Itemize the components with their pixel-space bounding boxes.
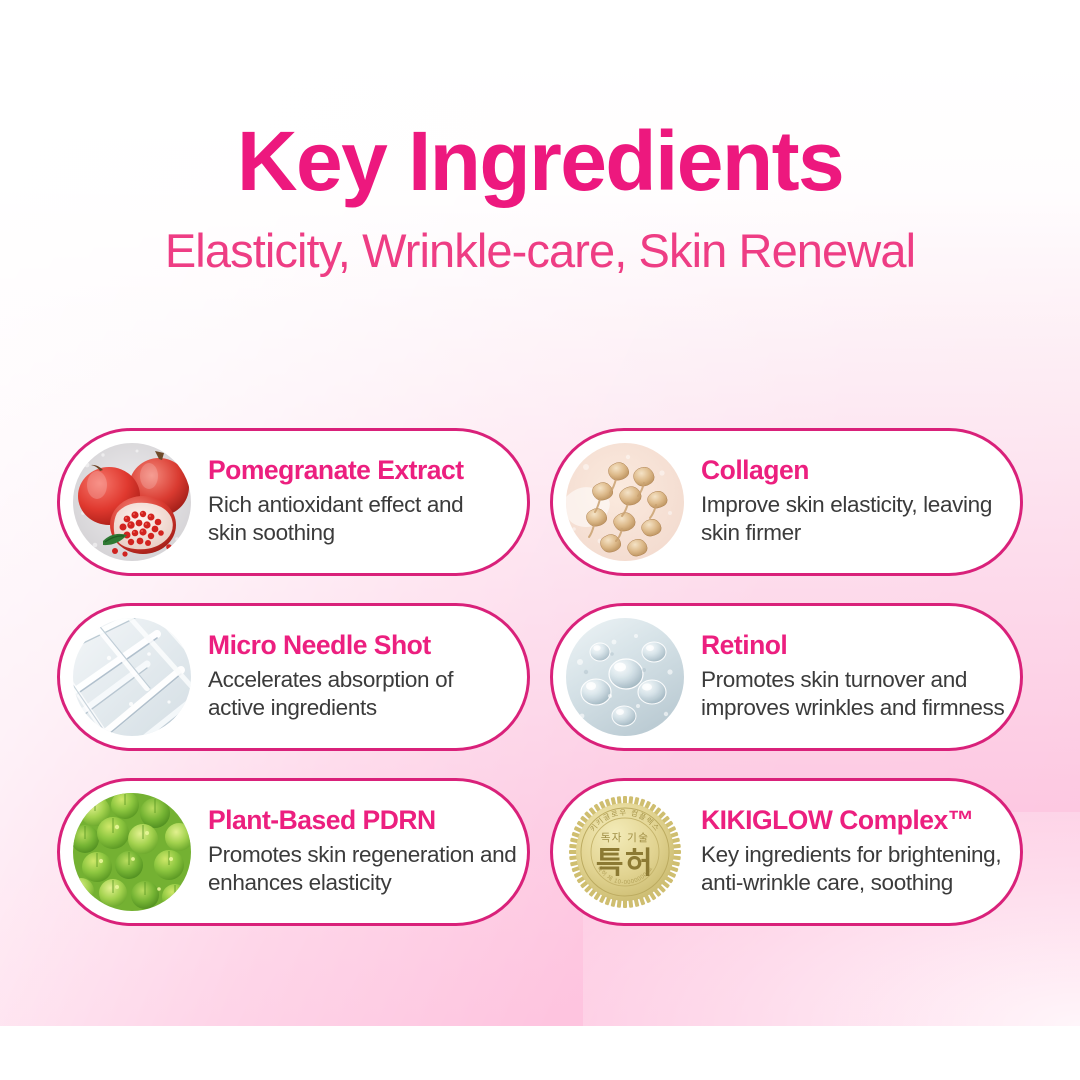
card-description: Promotes skin turnover and improves wrin…	[701, 666, 1001, 723]
card-description-line-2: active ingredients	[208, 694, 453, 723]
card-description: Promotes skin regeneration and enhances …	[208, 841, 508, 898]
water-droplets-photo	[566, 618, 684, 736]
card-description-line-2: improves wrinkles and firmness	[701, 694, 1001, 723]
seal-top-text: 독자 기술	[601, 832, 650, 844]
card-text: Retinol Promotes skin turnover and impro…	[684, 631, 1015, 722]
card-description: Improve skin elasticity, leaving skin fi…	[701, 491, 992, 548]
card-title: Collagen	[701, 456, 992, 485]
page-subtitle: Elasticity, Wrinkle-care, Skin Renewal	[0, 227, 1080, 274]
card-title: Retinol	[701, 631, 1001, 660]
card-description-line-1: Rich antioxidant effect and	[208, 491, 464, 520]
card-text: Collagen Improve skin elasticity, leavin…	[684, 456, 1006, 547]
card-text: Plant-Based PDRN Promotes skin regenerat…	[191, 806, 522, 897]
micro-needles-photo	[73, 618, 191, 736]
seal-main-text: 특허	[596, 847, 654, 880]
card-description-line-1: Improve skin elasticity, leaving	[701, 491, 992, 520]
card-title: KIKIGLOW Complex™	[701, 806, 1001, 835]
card-description-line-1: Accelerates absorption of	[208, 666, 453, 695]
card-title: Micro Needle Shot	[208, 631, 453, 660]
card-description-line-2: skin soothing	[208, 519, 464, 548]
card-description-line-1: Key ingredients for brightening,	[701, 841, 1001, 870]
card-description-line-2: enhances elasticity	[208, 869, 508, 898]
card-description-line-1: Promotes skin turnover and	[701, 666, 1001, 695]
ingredient-card-collagen[interactable]: Collagen Improve skin elasticity, leavin…	[550, 428, 1023, 576]
card-description: Accelerates absorption of active ingredi…	[208, 666, 453, 723]
card-description: Rich antioxidant effect and skin soothin…	[208, 491, 464, 548]
collagen-particles-photo	[566, 443, 684, 561]
card-text: Pomegranate Extract Rich antioxidant eff…	[191, 456, 478, 547]
card-description-line-1: Promotes skin regeneration and	[208, 841, 508, 870]
header: Key Ingredients Elasticity, Wrinkle-care…	[0, 119, 1080, 274]
page-title: Key Ingredients	[0, 119, 1080, 203]
ingredient-card-plant-based-pdrn[interactable]: Plant-Based PDRN Promotes skin regenerat…	[57, 778, 530, 926]
card-description-line-2: anti-wrinkle care, soothing	[701, 869, 1001, 898]
poster-content: Key Ingredients Elasticity, Wrinkle-care…	[0, 0, 1080, 1080]
ingredient-card-kikiglow-complex[interactable]: 키키글로우 컴플렉스 특허 제 10-0000000 호 독자 기술 특허 KI…	[550, 778, 1023, 926]
card-title: Pomegranate Extract	[208, 456, 464, 485]
pomegranate-photo	[73, 443, 191, 561]
card-description: Key ingredients for brightening, anti-wr…	[701, 841, 1001, 898]
card-description-line-2: skin firmer	[701, 519, 992, 548]
poster-stage: Key Ingredients Elasticity, Wrinkle-care…	[0, 0, 1080, 1080]
ingredients-grid: Pomegranate Extract Rich antioxidant eff…	[57, 428, 1023, 926]
centella-leaves-photo	[73, 793, 191, 911]
ingredient-card-micro-needle-shot[interactable]: Micro Needle Shot Accelerates absorption…	[57, 603, 530, 751]
ingredient-card-retinol[interactable]: Retinol Promotes skin turnover and impro…	[550, 603, 1023, 751]
card-text: KIKIGLOW Complex™ Key ingredients for br…	[684, 806, 1015, 897]
ingredient-card-pomegranate-extract[interactable]: Pomegranate Extract Rich antioxidant eff…	[57, 428, 530, 576]
card-text: Micro Needle Shot Accelerates absorption…	[191, 631, 467, 722]
patent-seal-badge: 키키글로우 컴플렉스 특허 제 10-0000000 호 독자 기술 특허	[566, 793, 684, 911]
card-title: Plant-Based PDRN	[208, 806, 508, 835]
